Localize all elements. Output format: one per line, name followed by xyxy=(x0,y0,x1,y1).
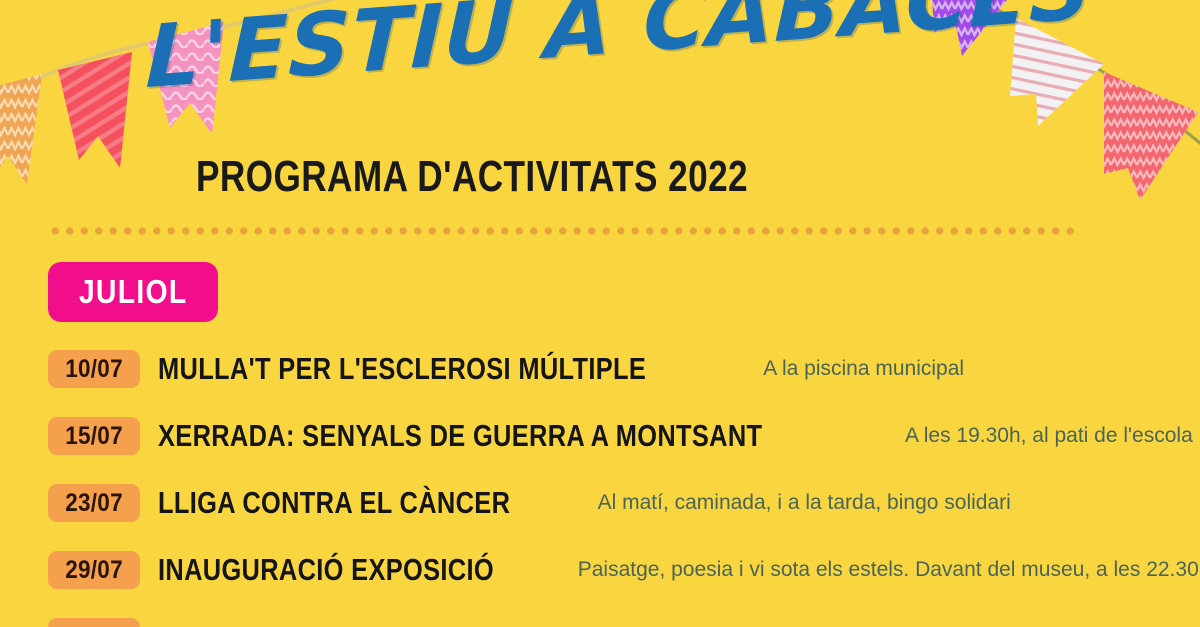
event-list: 10/07 MULLA'T PER L'ESCLEROSI MÚLTIPLE A… xyxy=(48,345,1188,627)
event-description: A les 19.30h, al pati de l'escola xyxy=(905,424,1193,448)
event-date-badge: 10/07 xyxy=(48,350,140,388)
event-title: MULLA'T PER L'ESCLEROSI MÚLTIPLE xyxy=(158,351,646,387)
event-date: 23/07 xyxy=(65,489,123,518)
event-title: LLIGA CONTRA EL CÀNCER xyxy=(158,485,510,521)
event-description: Al matí, caminada, i a la tarda, bingo s… xyxy=(598,491,1011,515)
event-date-badge: 29/07 xyxy=(48,551,140,589)
title-block: L'ESTIU A CABACÉS xyxy=(0,8,1200,108)
event-title: XERRADA: SENYALS DE GUERRA A MONTSANT xyxy=(158,418,762,454)
event-row: 23/07 LLIGA CONTRA EL CÀNCER Al matí, ca… xyxy=(48,479,1188,527)
event-title: INAUGURACIÓ EXPOSICIÓ xyxy=(158,552,494,588)
event-date: 15/07 xyxy=(65,422,123,451)
event-date-badge: 15/07 xyxy=(48,417,140,455)
event-description: A la piscina municipal xyxy=(763,357,964,381)
event-row: 15/07 XERRADA: SENYALS DE GUERRA A MONTS… xyxy=(48,412,1188,460)
event-date-badge xyxy=(48,618,140,627)
event-date: 10/07 xyxy=(65,355,123,384)
page-subtitle: PROGRAMA D'ACTIVITATS 2022 xyxy=(120,152,1080,202)
event-date-badge: 23/07 xyxy=(48,484,140,522)
event-row: 10/07 MULLA'T PER L'ESCLEROSI MÚLTIPLE A… xyxy=(48,345,1188,393)
event-description: Paisatge, poesia i vi sota els estels. D… xyxy=(578,558,1200,582)
month-badge-label: JULIOL xyxy=(79,273,188,311)
month-badge-juliol: JULIOL xyxy=(48,262,218,322)
dotted-divider xyxy=(48,226,1076,236)
poster-canvas: L'ESTIU A CABACÉS PROGRAMA D'ACTIVITATS … xyxy=(0,0,1200,627)
event-row: 29/07 INAUGURACIÓ EXPOSICIÓ Paisatge, po… xyxy=(48,546,1188,594)
event-row-clipped xyxy=(48,613,1188,627)
event-date: 29/07 xyxy=(65,556,123,585)
page-title: L'ESTIU A CABACÉS xyxy=(144,0,1093,108)
